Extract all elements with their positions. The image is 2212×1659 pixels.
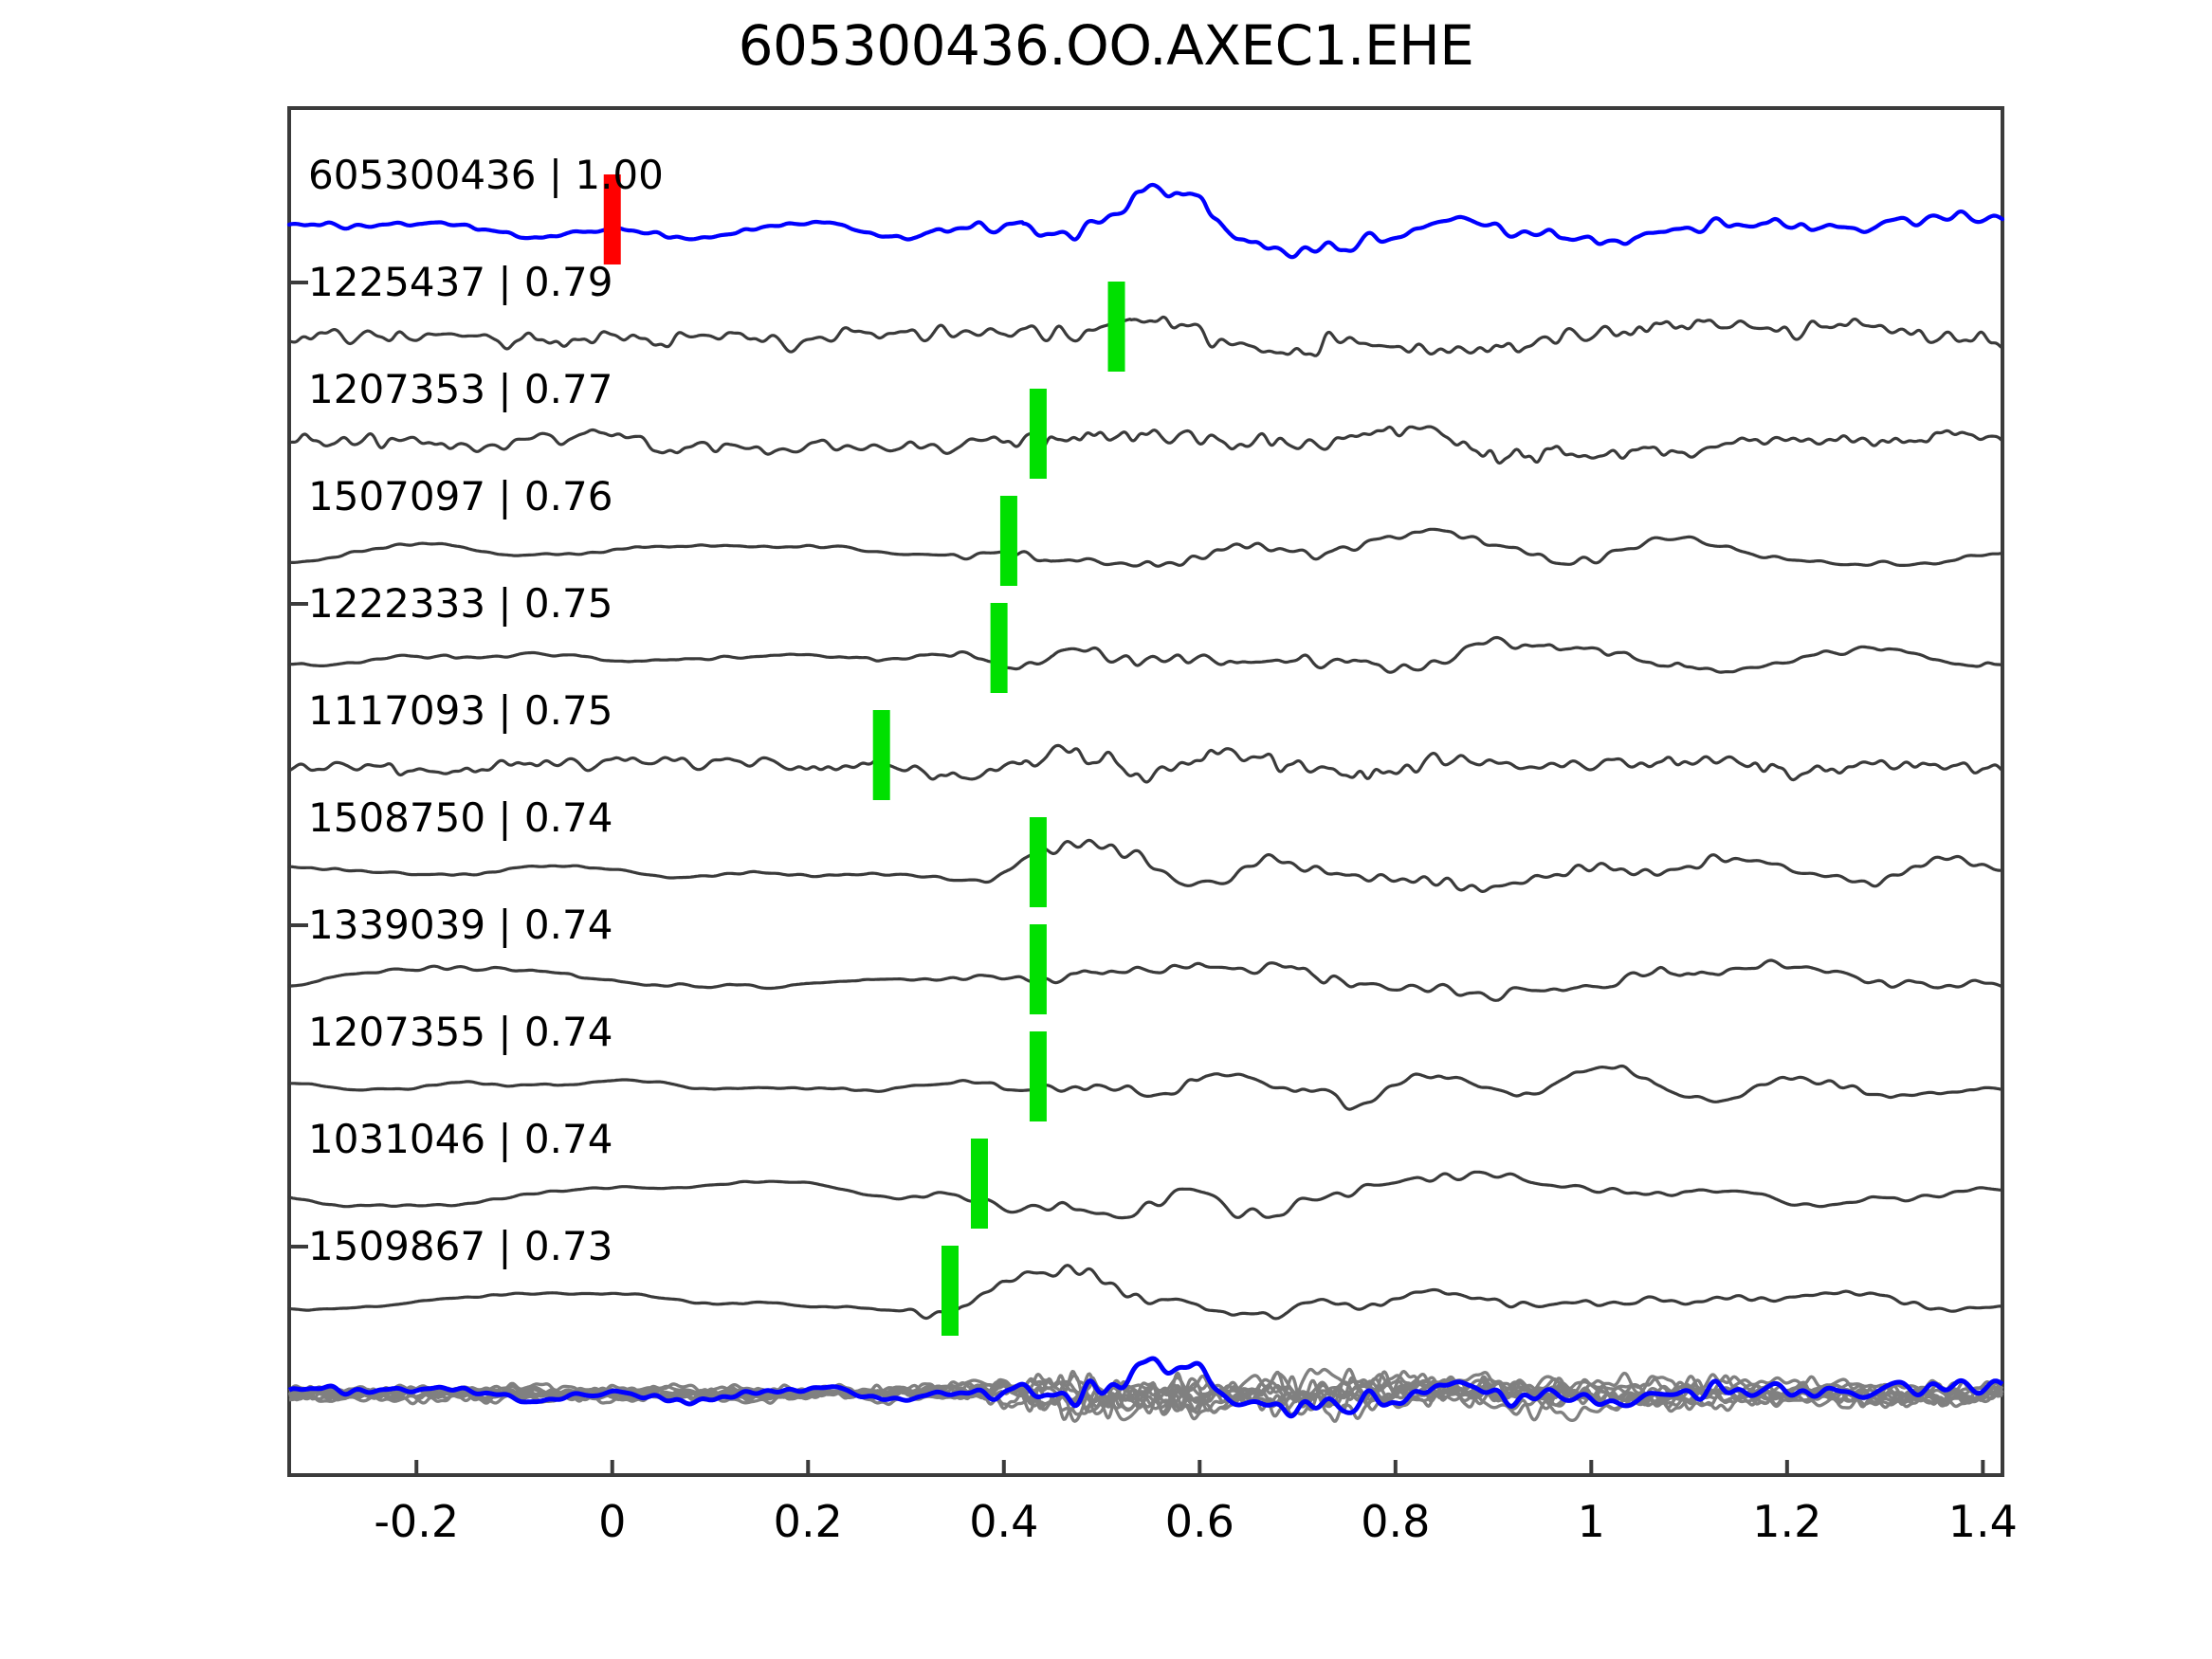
detection-waveform [289,960,2002,1000]
trace-label: 1508750 | 0.74 [308,798,612,838]
trace-label: 605300436 | 1.00 [308,155,664,195]
x-tick-label: 1 [1578,1500,1605,1543]
detection-waveform [289,1266,2002,1319]
detection-pick-marker [971,1139,988,1229]
seismic-waveform-figure: 605300436.OO.AXEC1.EHE 605300436 | 1.001… [0,0,2212,1659]
detection-pick-marker [941,1246,959,1336]
detection-pick-marker [1030,1031,1047,1121]
detection-pick-marker [991,603,1008,693]
detection-pick-marker [1030,817,1047,907]
trace-label: 1207353 | 0.77 [308,370,612,410]
detection-pick-marker [1108,282,1125,372]
trace-label: 1339039 | 0.74 [308,905,612,945]
detection-waveform [289,745,2002,782]
trace-label: 1031046 | 0.74 [308,1120,612,1159]
x-tick-label: 0.4 [969,1500,1038,1543]
detection-pick-marker [873,710,890,800]
detection-waveform [289,1172,2002,1217]
trace-label: 1225437 | 0.79 [308,263,612,302]
trace-label: 1222333 | 0.75 [308,584,612,624]
x-tick-label: 0.8 [1361,1500,1430,1543]
x-tick-label: 0.6 [1165,1500,1234,1543]
x-tick-label: 1.4 [1948,1500,2018,1543]
x-tick-label: 0 [598,1500,626,1543]
detection-pick-marker [1030,924,1047,1014]
detection-waveform [289,427,2002,463]
detection-pick-marker [1000,496,1017,586]
x-tick-label: -0.2 [374,1500,459,1543]
detection-waveform [289,318,2002,356]
trace-label: 1507097 | 0.76 [308,477,612,517]
detection-waveform [289,1066,2002,1110]
detection-pick-marker [1030,389,1047,479]
x-tick-label: 1.2 [1752,1500,1821,1543]
x-tick-label: 0.2 [774,1500,843,1543]
trace-label: 1509867 | 0.73 [308,1227,612,1267]
plot-frame [289,108,2002,1475]
detection-waveform [289,840,2002,891]
detection-waveform [289,529,2002,566]
detection-waveform [289,638,2002,673]
trace-label: 1207355 | 0.74 [308,1012,612,1052]
trace-label: 1117093 | 0.75 [308,691,612,731]
